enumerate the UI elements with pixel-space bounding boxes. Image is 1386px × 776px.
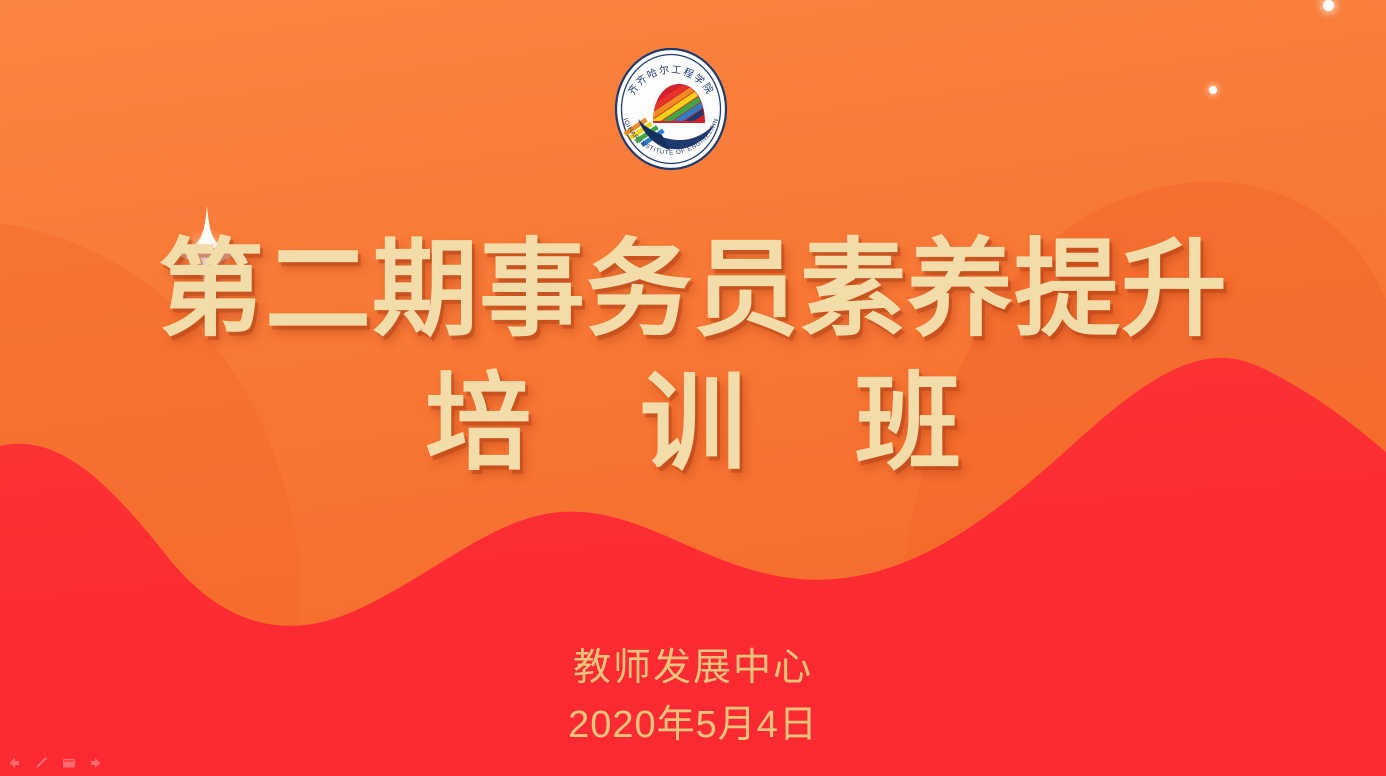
pen-icon [32,754,50,772]
arrow-right-icon [88,754,106,772]
slides-grid-icon [60,754,78,772]
slide-menu-button[interactable] [60,754,78,772]
university-logo: 齐齐哈尔工程学院 QIQIHAR INSTITUTE OF ENGINEERIN… [612,47,730,171]
pen-tool-button[interactable] [32,754,50,772]
next-slide-button[interactable] [88,754,106,772]
previous-slide-button[interactable] [4,754,22,772]
arrow-left-icon [4,754,22,772]
presentation-slide: 齐齐哈尔工程学院 QIQIHAR INSTITUTE OF ENGINEERIN… [0,0,1386,776]
presenter-toolbar[interactable] [4,754,106,772]
